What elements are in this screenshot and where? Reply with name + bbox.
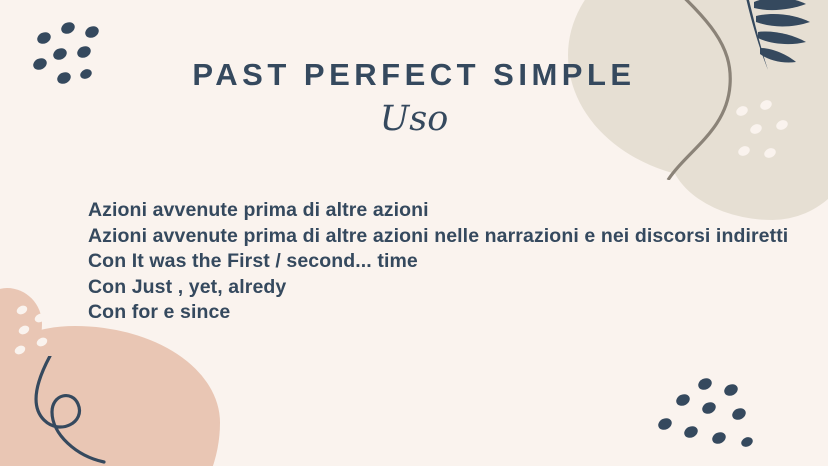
pink-blob-left <box>0 288 42 368</box>
list-item: Con Just , yet, alredy <box>88 275 798 301</box>
slide: PAST PERFECT SIMPLE Uso Azioni avvenute … <box>0 0 828 466</box>
dot-cluster-bottom-right-icon <box>643 376 773 456</box>
list-item: Azioni avvenute prima di altre azioni ne… <box>88 224 798 250</box>
squiggle-icon <box>30 356 160 466</box>
list-item: Con It was the First / second... time <box>88 249 798 275</box>
list-item: Con for e since <box>88 300 798 326</box>
dot-cluster-left-icon <box>10 300 60 360</box>
page-title: PAST PERFECT SIMPLE <box>0 57 828 93</box>
pink-blob-bottom-left <box>0 326 220 466</box>
list-item: Azioni avvenute prima di altre azioni <box>88 198 798 224</box>
body-list: Azioni avvenute prima di altre azioni Az… <box>88 198 798 326</box>
page-subtitle: Uso <box>0 99 828 139</box>
